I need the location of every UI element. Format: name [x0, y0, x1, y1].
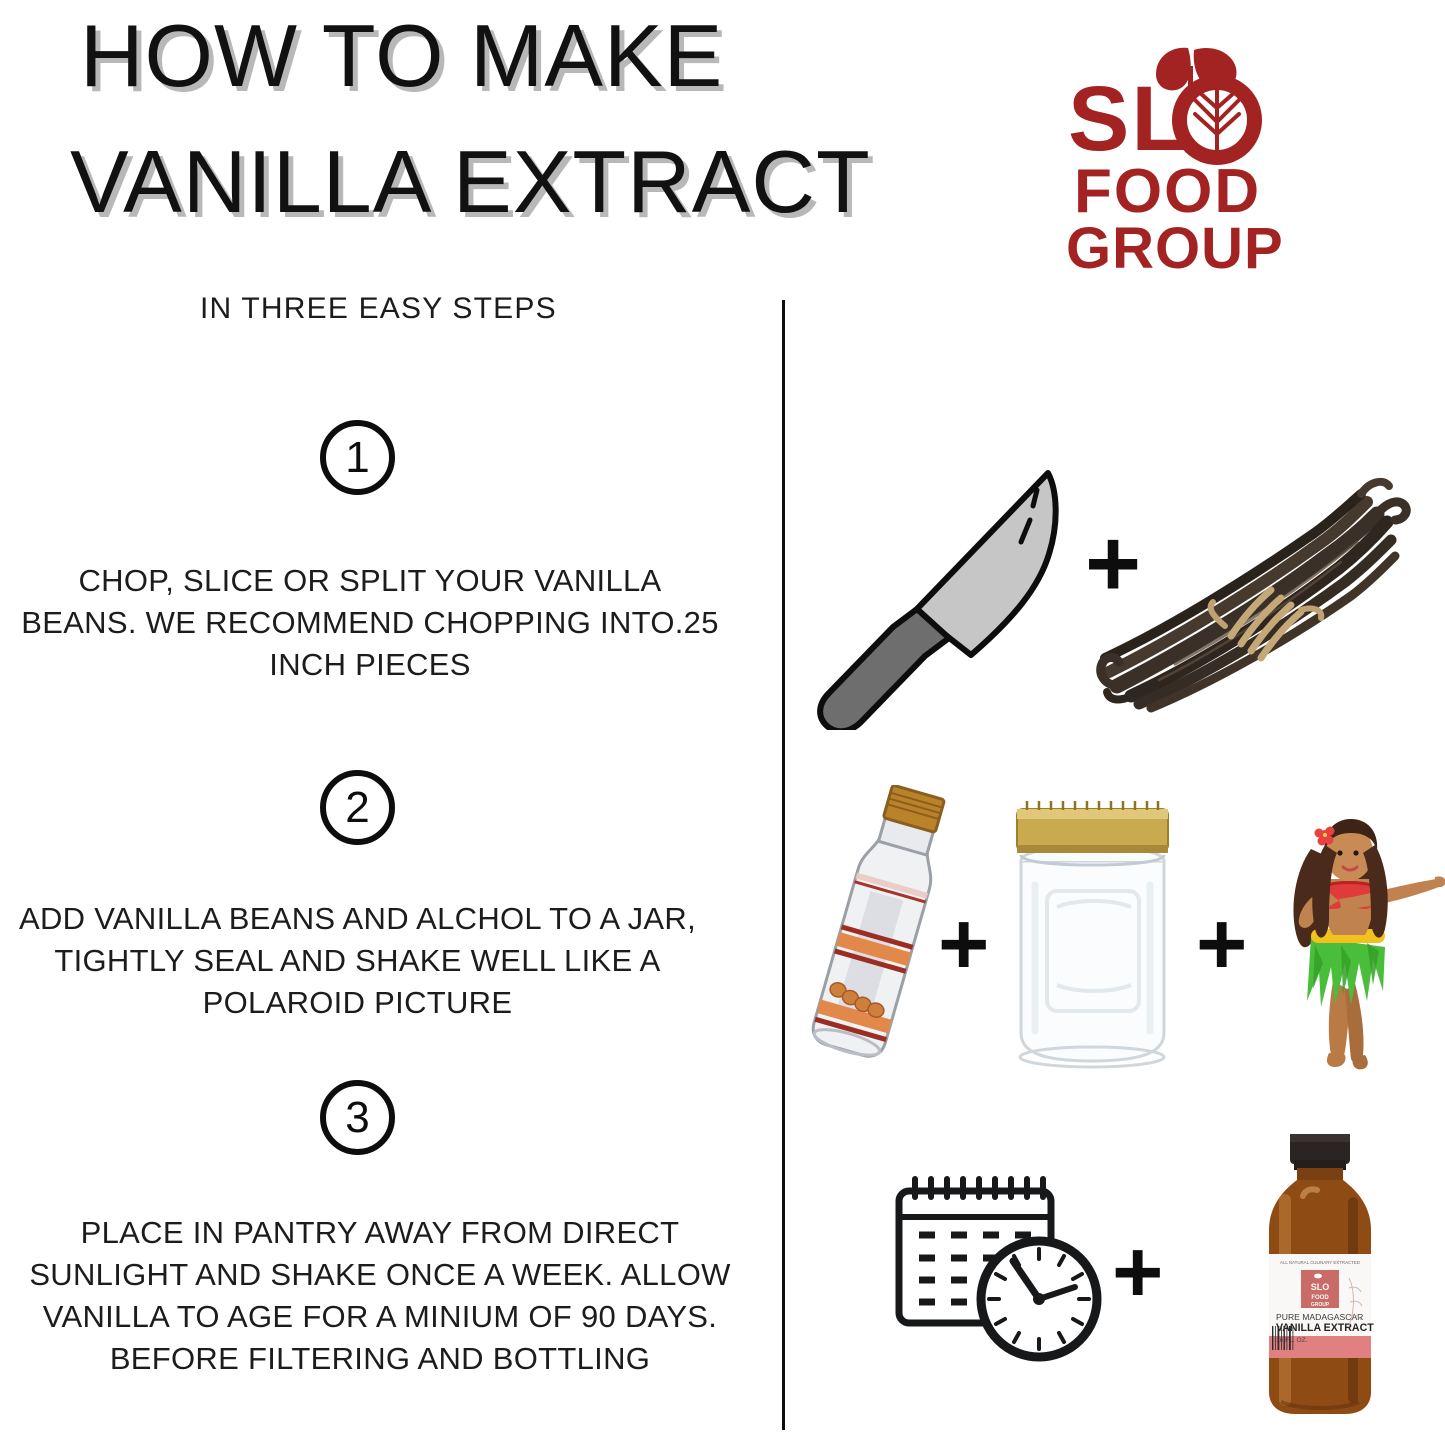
calendar-clock-icon	[885, 1175, 1155, 1385]
label-tagline: ALL NATURAL CULINARY EXTRACTED	[1280, 1260, 1360, 1265]
vodka-bottle-icon	[795, 785, 965, 1070]
subtitle: IN THREE EASY STEPS	[200, 292, 557, 326]
label-line-1: PURE MADAGASCAR	[1276, 1312, 1363, 1322]
step-2-description: ADD VANILLA BEANS AND ALCHOL TO A JAR, T…	[0, 898, 715, 1024]
step-3-description: PLACE IN PANTRY AWAY FROM DIRECT SUNLIGH…	[0, 1212, 760, 1380]
title-line-2: VANILLA EXTRACT	[70, 134, 950, 230]
title-line-1: HOW TO MAKE	[80, 8, 950, 104]
chef-knife-icon	[805, 450, 1105, 730]
plus-operator-icon: +	[1196, 900, 1247, 988]
step-number-2: 2	[320, 770, 395, 845]
svg-text:GROUP: GROUP	[1066, 216, 1284, 280]
step-number-3-label: 3	[345, 1096, 369, 1140]
page-title: HOW TO MAKE VANILLA EXTRACT	[70, 8, 950, 230]
vanilla-bean-bundle-icon	[1095, 450, 1425, 720]
step-number-3: 3	[320, 1080, 395, 1155]
label-volume: 16 FL. OZ.	[1276, 1337, 1308, 1344]
step-number-1: 1	[320, 420, 395, 495]
vertical-divider	[782, 300, 785, 1430]
hula-dancer-icon	[1255, 805, 1445, 1080]
slo-food-group-logo: SL FOOD GROUP	[1060, 30, 1310, 280]
svg-text:FOOD: FOOD	[1311, 1295, 1329, 1301]
step-1-description: CHOP, SLICE OR SPLIT YOUR VANILLA BEANS.…	[20, 560, 720, 686]
step-number-2-label: 2	[345, 786, 369, 830]
vanilla-extract-bottle-icon: ALL NATURAL CULINARY EXTRACTED SLO FOOD …	[1245, 1130, 1395, 1420]
svg-text:GROUP: GROUP	[1311, 1302, 1330, 1308]
mason-jar-icon	[995, 795, 1190, 1070]
step-number-1-label: 1	[345, 436, 369, 480]
svg-text:SL: SL	[1068, 68, 1190, 170]
plus-glyph: +	[1196, 900, 1247, 988]
infographic-page: HOW TO MAKE VANILLA EXTRACT SL	[0, 0, 1445, 1445]
svg-text:SLO: SLO	[1311, 1282, 1330, 1292]
